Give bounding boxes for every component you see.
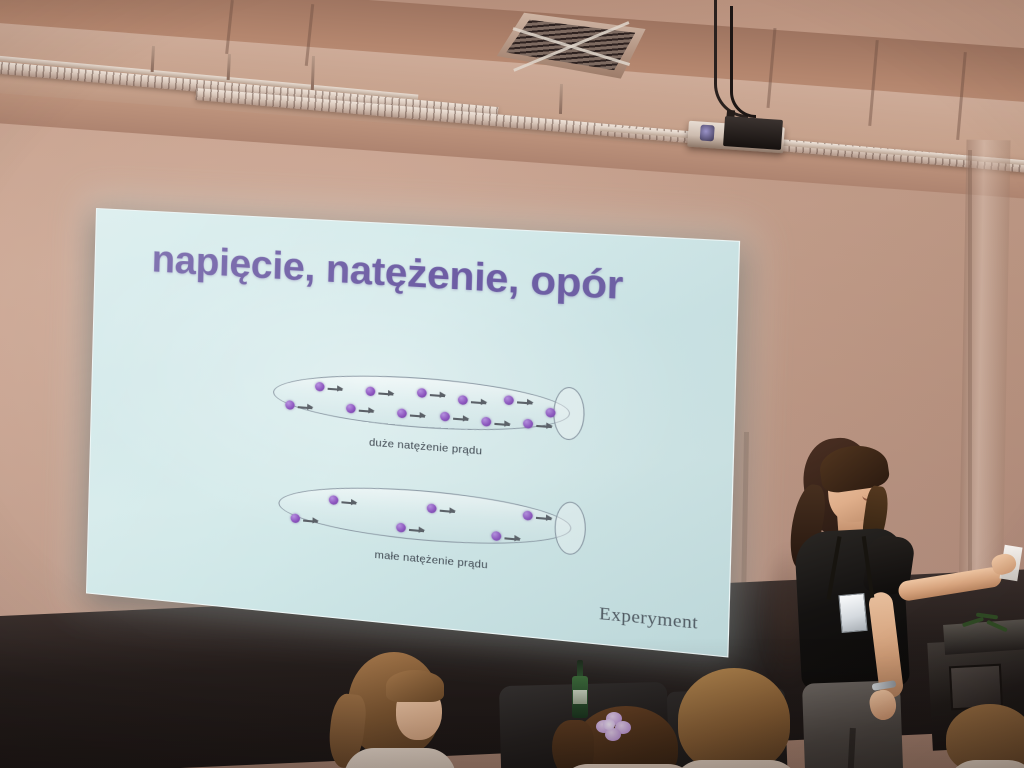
hair (678, 668, 790, 768)
figure-low-current: małe natężenie prądu (279, 479, 592, 505)
child-far-right (946, 704, 1024, 768)
hair (946, 704, 1024, 768)
projector-lens-icon (700, 125, 715, 142)
pointing-arm (897, 566, 1003, 602)
child-right (672, 668, 802, 768)
projector-cable (730, 6, 756, 118)
child-left-ponytail (330, 652, 470, 768)
figure-high-current: duże natężenie prądu (274, 368, 587, 390)
clothing (672, 760, 800, 768)
slide-brandmark: Experyment (599, 603, 699, 634)
slide-title: napięcie, natężenie, opór (151, 238, 623, 309)
clothing (344, 748, 456, 768)
projection-screen[interactable]: napięcie, natężenie, opór duże natężen (86, 208, 740, 658)
figure-caption-high: duże natężenie prądu (272, 429, 585, 466)
lanyard-badge (838, 593, 867, 633)
hair-fringe (386, 670, 444, 702)
projector-housing (723, 116, 783, 150)
tube-end-cap (553, 386, 586, 440)
hair-flower-icon (596, 712, 632, 744)
figure-caption-low: małe natężenie prądu (277, 540, 590, 581)
ceiling-air-vent-icon (495, 10, 646, 79)
hair-strand (552, 720, 594, 768)
tube-end-cap (554, 501, 587, 556)
presentation-photo: napięcie, natężenie, opór duże natężen (0, 0, 1024, 768)
